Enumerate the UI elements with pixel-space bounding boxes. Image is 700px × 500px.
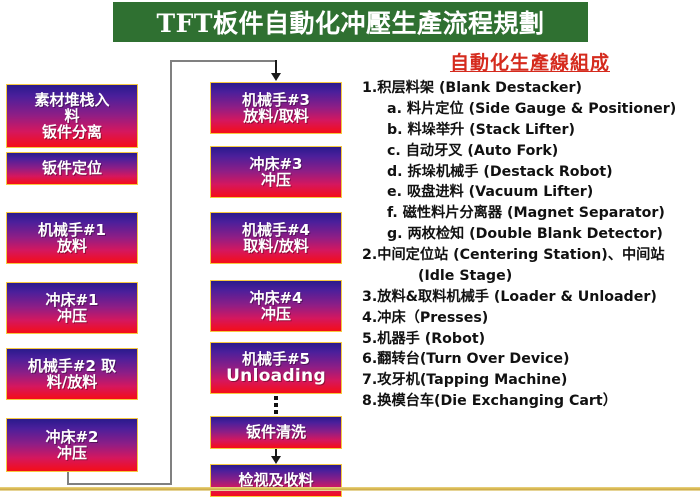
flow-box-robot-3[interactable]: 机械手#3 放料/取料 — [210, 82, 342, 134]
list-item: 7.攻牙机(Tapping Machine) — [360, 370, 700, 391]
flow-box-robot-4[interactable]: 机械手#4 取料/放料 — [210, 212, 342, 264]
flow-box-press-2[interactable]: 冲床#2 冲压 — [6, 418, 138, 472]
flow-box-sheet-cleaning[interactable]: 钣件清洗 — [210, 416, 342, 449]
page-title-banner: TFT板件自動化冲壓生產流程規劃 — [113, 2, 588, 42]
list-item: 3.放料&取料机械手 (Loader & Unloader) — [360, 287, 700, 308]
flow-box-press-4[interactable]: 冲床#4 冲压 — [210, 280, 342, 332]
automation-line-composition-panel: 自動化生產線組成 1.积层料架 (Blank Destacker) a. 料片定… — [360, 48, 700, 412]
box-line: 冲压 — [57, 308, 87, 324]
flow-box-press-3[interactable]: 冲床#3 冲压 — [210, 146, 342, 198]
box-line: 机械手#5 — [242, 351, 310, 367]
flow-box-press-1[interactable]: 冲床#1 冲压 — [6, 282, 138, 334]
box-line: 冲床#3 — [249, 156, 302, 172]
list-item: 8.换模台车(Die Exchanging Cart） — [360, 391, 700, 412]
dot — [274, 410, 278, 414]
dot — [274, 396, 278, 400]
box-line: 冲压 — [261, 306, 291, 322]
list-item: 6.翻转台(Turn Over Device) — [360, 349, 700, 370]
dot — [274, 403, 278, 407]
right-panel-heading: 自動化生產線組成 — [360, 48, 700, 75]
box-line: 冲床#2 — [45, 429, 98, 445]
box-line: 钣件分离 — [42, 124, 102, 140]
flow-box-robot-1[interactable]: 机械手#1 放料 — [6, 212, 138, 264]
connector-bottom-horizontal — [67, 483, 172, 485]
flow-box-robot-2[interactable]: 机械手#2 取 料/放料 — [6, 348, 138, 400]
dotted-connector-robot5-to-cleaning — [274, 396, 278, 414]
box-line: 机械手#3 — [242, 92, 310, 108]
box-line: 机械手#1 — [38, 222, 106, 238]
box-line: 冲压 — [261, 172, 291, 188]
flow-box-robot-5-unloading[interactable]: 机械手#5 Unloading — [210, 342, 342, 394]
flow-box-sheet-positioning[interactable]: 钣件定位 — [6, 152, 138, 185]
box-line: 放料/取料 — [243, 108, 308, 124]
connector-left-riser — [170, 60, 172, 485]
list-item: e. 吸盘进料 (Vacuum Lifter) — [360, 182, 700, 203]
connector-into-robot3 — [275, 60, 277, 74]
list-item: d. 拆垛机械手 (Destack Robot) — [360, 162, 700, 183]
box-line: 料 — [64, 108, 79, 124]
list-item: 2.中间定位站 (Centering Station)、中间站 — [360, 245, 700, 266]
box-line: 冲压 — [57, 445, 87, 461]
box-line: 机械手#4 — [242, 222, 310, 238]
list-item: b. 料垛举升 (Stack Lifter) — [360, 120, 700, 141]
list-item: 5.机器手 (Robot) — [360, 329, 700, 350]
list-item: c. 自动牙叉 (Auto Fork) — [360, 141, 700, 162]
arrow-into-inspection-icon — [271, 456, 281, 464]
page-title: TFT板件自動化冲壓生產流程規劃 — [157, 4, 545, 40]
box-line: 机械手#2 取 — [28, 358, 116, 374]
arrow-into-robot3-icon — [271, 73, 281, 81]
box-line: 钣件定位 — [42, 160, 102, 176]
list-item: a. 料片定位 (Side Gauge & Positioner) — [360, 99, 700, 120]
box-line: 钣件清洗 — [246, 424, 306, 440]
list-item: 4.冲床（Presses) — [360, 308, 700, 329]
box-line: Unloading — [226, 367, 326, 385]
list-item: (Idle Stage) — [360, 266, 700, 287]
flow-box-material-stack-infeed[interactable]: 素材堆栈入 料 钣件分离 — [6, 84, 138, 148]
list-item: 1.积层料架 (Blank Destacker) — [360, 78, 700, 99]
box-line: 取料/放料 — [243, 238, 308, 254]
box-line: 冲床#1 — [45, 292, 98, 308]
connector-top-horizontal — [170, 60, 277, 62]
box-line: 料/放料 — [47, 374, 97, 390]
box-line: 冲床#4 — [249, 290, 302, 306]
box-line: 素材堆栈入 — [34, 92, 109, 108]
bottom-divider — [0, 487, 700, 491]
list-item: g. 两枚检知 (Double Blank Detector) — [360, 224, 700, 245]
flowchart-canvas: TFT板件自動化冲壓生產流程規劃 素材堆栈入 料 钣件分离 钣件定位 机械手#1… — [0, 0, 700, 500]
box-line: 放料 — [57, 238, 87, 254]
flow-box-inspection-collection[interactable]: 检视及收料 — [210, 464, 342, 497]
list-item: f. 磁性料片分离器 (Magnet Separator) — [360, 203, 700, 224]
